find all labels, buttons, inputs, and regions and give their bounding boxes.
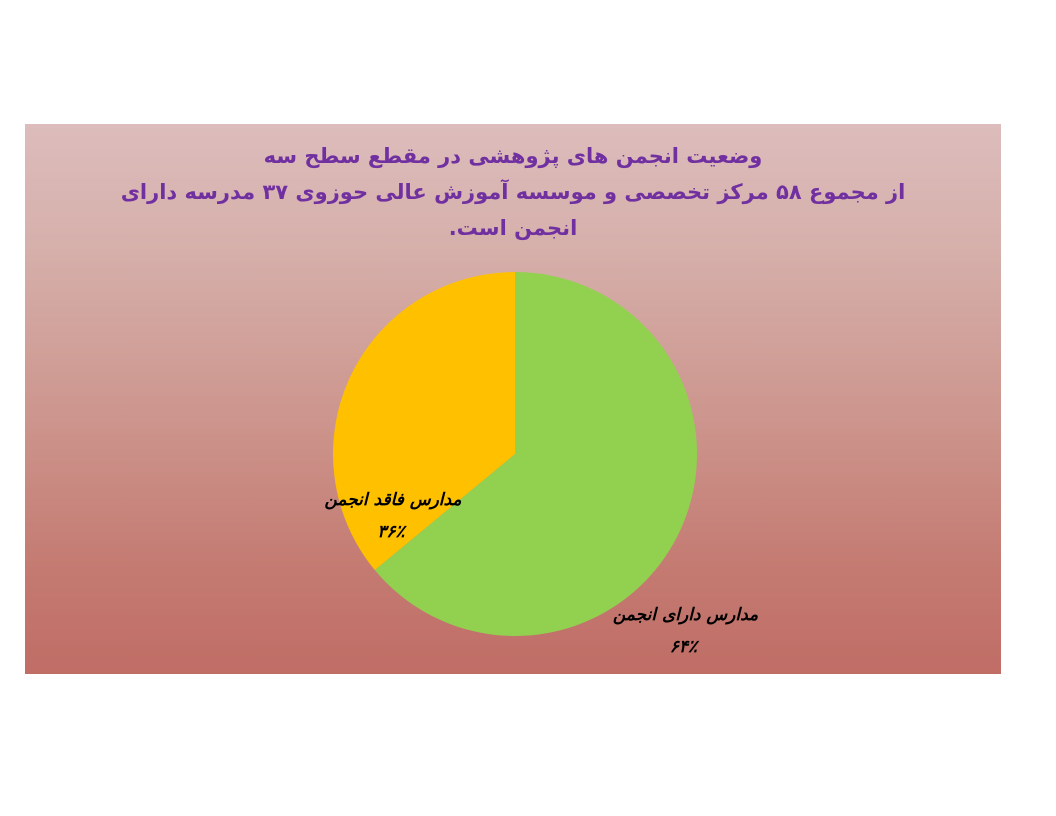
pie-label-schools-without-association: مدارس فاقد انجمن ۳۶٪ bbox=[293, 484, 493, 548]
chart-title-line-1: وضعیت انجمن های پژوهشی در مقطع سطح سه bbox=[25, 138, 1001, 174]
pie-chart bbox=[330, 269, 700, 639]
pie-label-schools-with-association: مدارس دارای انجمن ۶۴٪ bbox=[583, 599, 788, 663]
chart-panel: وضعیت انجمن های پژوهشی در مقطع سطح سه از… bbox=[25, 124, 1001, 674]
pie-label-without-name: مدارس فاقد انجمن bbox=[293, 484, 493, 516]
chart-title-line-3: انجمن است. bbox=[25, 210, 1001, 246]
pie-label-with-name: مدارس دارای انجمن bbox=[583, 599, 788, 631]
pie-label-without-percent: ۳۶٪ bbox=[293, 516, 493, 548]
chart-title-line-2: از مجموع ۵۸ مرکز تخصصی و موسسه آموزش عال… bbox=[25, 174, 1001, 210]
pie-label-with-percent: ۶۴٪ bbox=[583, 631, 788, 663]
pie-chart-svg bbox=[330, 269, 700, 639]
chart-title: وضعیت انجمن های پژوهشی در مقطع سطح سه از… bbox=[25, 138, 1001, 246]
